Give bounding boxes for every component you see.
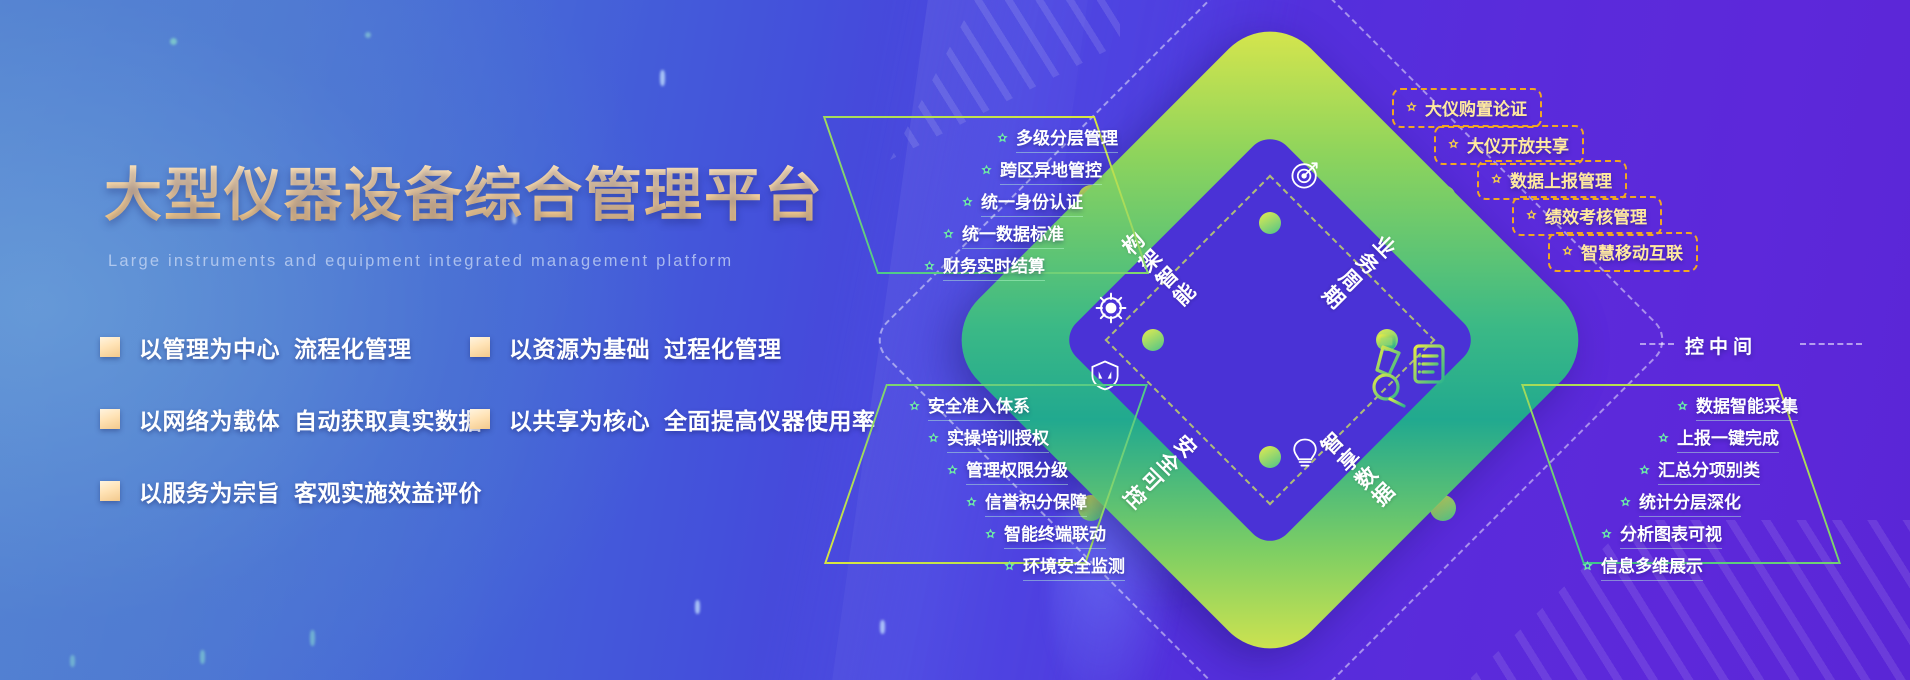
star-icon — [1447, 138, 1460, 151]
list-item: 信誉积分保障 — [850, 488, 1130, 517]
bullet-square-icon — [470, 409, 490, 429]
list-item: 统计分层深化 — [1530, 488, 1810, 517]
feature-item: 以资源为基础过程化管理 — [470, 330, 890, 364]
star-icon — [1525, 209, 1538, 222]
card-bottom-right: 数据智能采集 上报一键完成 汇总分项别类 统计分层深化 分析图表可视 信息多维展… — [1530, 392, 1810, 584]
feature-item: 以服务为宗旨客观实施效益评价 — [100, 474, 470, 508]
feature-lead: 以网络为载体 — [139, 408, 280, 434]
star-icon — [1600, 528, 1613, 541]
list-item: 实操培训授权 — [850, 424, 1130, 453]
star-icon — [1581, 560, 1594, 573]
hero-panel: 大型仪器设备综合管理平台 Large instruments and equip… — [0, 0, 900, 680]
badge-item[interactable]: 大仪购置论证 — [1392, 88, 1542, 128]
list-item: 安全准入体系 — [850, 392, 1130, 421]
axis-dash-right-outer — [1640, 343, 1674, 345]
list-item: 上报一键完成 — [1530, 424, 1810, 453]
architecture-diagram: 管两头 控中间 构架智能 — [840, 0, 1910, 680]
list-item: 统一身份认证 — [850, 188, 1130, 217]
star-icon — [1003, 560, 1016, 573]
badge-item[interactable]: 大仪开放共享 — [1434, 125, 1584, 165]
star-icon — [946, 464, 959, 477]
list-item: 跨区异地管控 — [850, 156, 1130, 185]
star-icon — [965, 496, 978, 509]
star-icon — [1638, 464, 1651, 477]
star-icon — [1561, 245, 1574, 258]
microscope-icon — [1353, 330, 1463, 430]
target-icon — [1287, 157, 1323, 193]
list-item: 智能终端联动 — [850, 520, 1130, 549]
list-item: 统一数据标准 — [850, 220, 1130, 249]
list-item: 环境安全监测 — [850, 552, 1130, 581]
card-bottom-left: 安全准入体系 实操培训授权 管理权限分级 信誉积分保障 智能终端联动 环境安全监… — [850, 392, 1130, 584]
feature-lead: 以共享为核心 — [509, 408, 650, 434]
star-icon — [908, 400, 921, 413]
feature-item: 以管理为中心流程化管理 — [100, 330, 470, 364]
star-icon — [923, 260, 936, 273]
feature-detail: 过程化管理 — [664, 336, 782, 362]
star-icon — [927, 432, 940, 445]
bullet-square-icon — [100, 481, 120, 501]
axis-dash-right-inner — [1800, 343, 1862, 345]
diamond-node-dot — [1142, 329, 1164, 351]
feature-row: 以网络为载体自动获取真实数据 以共享为核心全面提高仪器使用率 — [100, 402, 890, 474]
star-icon — [942, 228, 955, 241]
list-item: 管理权限分级 — [850, 456, 1130, 485]
bulb-icon — [1287, 435, 1323, 471]
star-icon — [1619, 496, 1632, 509]
bullet-square-icon — [100, 409, 120, 429]
feature-lead: 以管理为中心 — [139, 336, 280, 362]
diamond-node-dot — [1259, 446, 1281, 468]
star-icon — [1657, 432, 1670, 445]
star-icon — [1676, 400, 1689, 413]
badge-item[interactable]: 绩效考核管理 — [1512, 196, 1662, 236]
feature-item: 以共享为核心全面提高仪器使用率 — [470, 402, 890, 436]
axis-label-right: 控中间 — [1685, 332, 1757, 359]
star-icon — [1490, 173, 1503, 186]
page-title: 大型仪器设备综合管理平台 — [104, 148, 824, 232]
list-item: 数据智能采集 — [1530, 392, 1810, 421]
banner-stage: 大型仪器设备综合管理平台 Large instruments and equip… — [0, 0, 1910, 680]
feature-row: 以管理为中心流程化管理 以资源为基础过程化管理 — [100, 330, 890, 402]
list-item: 分析图表可视 — [1530, 520, 1810, 549]
card-top-left: 多级分层管理 跨区异地管控 统一身份认证 统一数据标准 财务实时结算 — [850, 124, 1130, 284]
star-icon — [980, 164, 993, 177]
star-icon — [1405, 101, 1418, 114]
star-icon — [996, 132, 1009, 145]
list-item: 财务实时结算 — [850, 252, 1130, 281]
feature-lead: 以资源为基础 — [509, 336, 650, 362]
badge-item[interactable]: 数据上报管理 — [1477, 160, 1627, 200]
star-icon — [961, 196, 974, 209]
diamond-node-dot — [1259, 212, 1281, 234]
feature-detail: 流程化管理 — [294, 336, 412, 362]
bullet-square-icon — [100, 337, 120, 357]
list-item: 多级分层管理 — [850, 124, 1130, 153]
badge-item[interactable]: 智慧移动互联 — [1548, 232, 1698, 272]
feature-row: 以服务为宗旨客观实施效益评价 — [100, 474, 890, 546]
feature-list: 以管理为中心流程化管理 以资源为基础过程化管理 以网络为载体自动获取真实数据 以… — [100, 330, 890, 546]
list-item: 汇总分项别类 — [1530, 456, 1810, 485]
feature-detail: 客观实施效益评价 — [294, 480, 482, 506]
bullet-square-icon — [470, 337, 490, 357]
feature-detail: 自动获取真实数据 — [294, 408, 482, 434]
gear-icon — [1093, 290, 1129, 326]
feature-lead: 以服务为宗旨 — [139, 480, 280, 506]
list-item: 信息多维展示 — [1530, 552, 1810, 581]
feature-item: 以网络为载体自动获取真实数据 — [100, 402, 470, 436]
page-subtitle: Large instruments and equipment integrat… — [108, 252, 733, 271]
star-icon — [984, 528, 997, 541]
